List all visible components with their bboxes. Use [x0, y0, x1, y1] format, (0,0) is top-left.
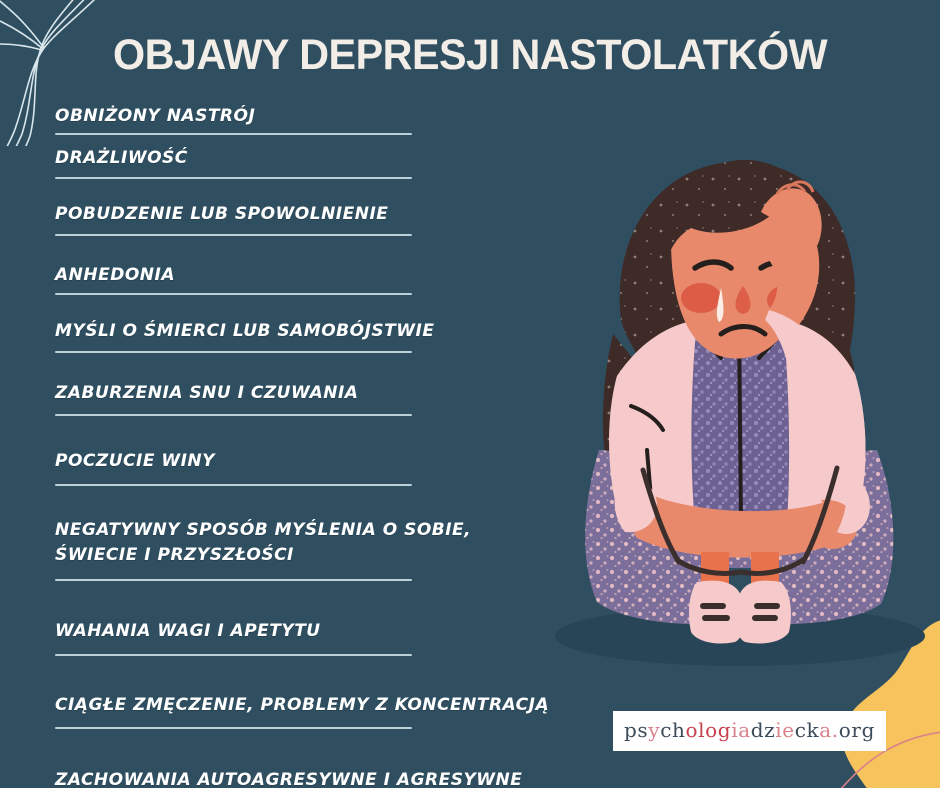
item-divider — [55, 579, 412, 581]
logo-text: psychologiadziecka.org — [624, 718, 875, 742]
list-item: ANHEDONIA — [55, 251, 555, 308]
symptom-label: MYŚLI O ŚMIERCI LUB SAMOBÓJSTWIE — [55, 319, 555, 344]
symptom-label: NEGATYWNY SPOSÓB MYŚLENIA O SOBIE, ŚWIEC… — [55, 518, 555, 568]
infographic-poster: OBJAWY DEPRESJI NASTOLATKÓW OBNIŻONY NAS… — [0, 0, 940, 788]
symptom-list: OBNIŻONY NASTRÓJ DRAŻLIWOŚĆ POBUDZENIE L… — [55, 104, 555, 788]
item-divider — [55, 293, 412, 295]
list-item: DRAŻLIWOŚĆ — [55, 137, 555, 188]
list-item: CIĄGŁE ZMĘCZENIE, PROBLEMY Z KONCENTRACJ… — [55, 675, 555, 749]
item-divider — [55, 234, 412, 236]
item-divider — [55, 414, 412, 416]
list-item: OBNIŻONY NASTRÓJ — [55, 104, 555, 137]
item-divider — [55, 654, 412, 656]
list-item: POBUDZENIE LUB SPOWOLNIENIE — [55, 188, 555, 251]
sad-teenage-girl-illustration — [525, 120, 940, 680]
symptom-label: OBNIŻONY NASTRÓJ — [55, 104, 555, 129]
list-item: POCZUCIE WINY — [55, 433, 555, 503]
list-item: ZABURZENIA SNU I CZUWANIA — [55, 365, 555, 433]
item-divider — [55, 133, 412, 135]
symptom-label: POCZUCIE WINY — [55, 449, 555, 474]
item-divider — [55, 177, 412, 179]
symptom-label: CIĄGŁE ZMĘCZENIE, PROBLEMY Z KONCENTRACJ… — [55, 693, 555, 718]
list-item: NEGATYWNY SPOSÓB MYŚLENIA O SOBIE, ŚWIEC… — [55, 503, 555, 602]
symptom-label: ZACHOWANIA AUTOAGRESYWNE I AGRESYWNE — [55, 768, 555, 788]
list-item: WAHANIA WAGI I APETYTU — [55, 602, 555, 675]
site-logo[interactable]: psychologiadziecka.org — [613, 711, 886, 751]
symptom-label: WAHANIA WAGI I APETYTU — [55, 619, 555, 644]
item-divider — [55, 484, 412, 486]
symptom-label: DRAŻLIWOŚĆ — [55, 146, 555, 171]
item-divider — [55, 351, 412, 353]
symptom-label: POBUDZENIE LUB SPOWOLNIENIE — [55, 202, 555, 227]
page-title: OBJAWY DEPRESJI NASTOLATKÓW — [19, 31, 921, 80]
list-item: MYŚLI O ŚMIERCI LUB SAMOBÓJSTWIE — [55, 308, 555, 365]
symptom-label: ANHEDONIA — [55, 263, 555, 288]
item-divider — [55, 727, 412, 729]
list-item: ZACHOWANIA AUTOAGRESYWNE I AGRESYWNE — [55, 749, 555, 788]
symptom-label: ZABURZENIA SNU I CZUWANIA — [55, 381, 555, 406]
